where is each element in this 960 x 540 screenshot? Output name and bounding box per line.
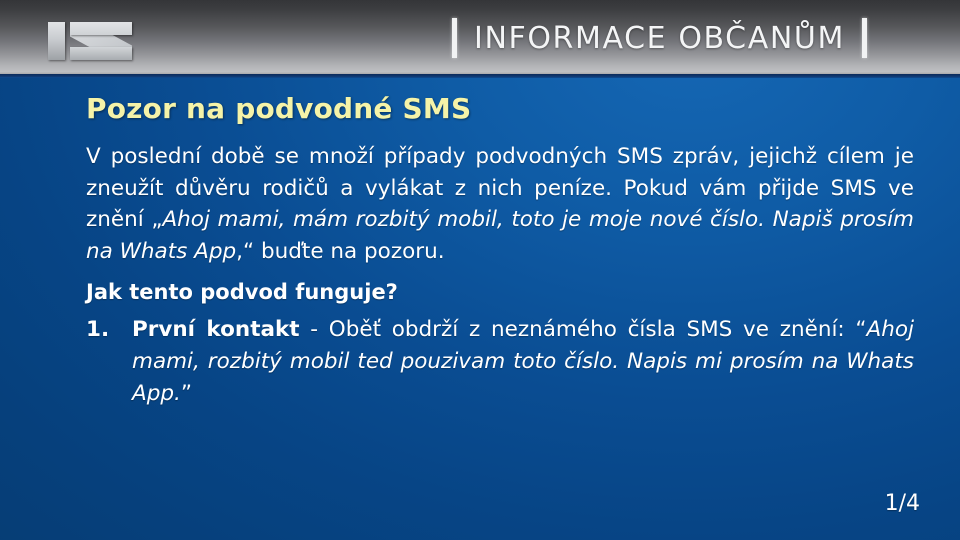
section-subheading: Jak tento podvod funguje?: [86, 280, 914, 304]
logo-letter-s-bottom: [70, 47, 132, 60]
list-item: 1.První kontakt - Oběť obdrží z neznáméh…: [86, 314, 914, 409]
intro-paragraph: V poslední době se množí případy podvodn…: [86, 141, 914, 267]
step-text-after-quote: ”: [181, 381, 192, 406]
header-title-group: INFORMACE OBČANŮM: [452, 17, 867, 59]
step-number: 1.: [86, 314, 109, 346]
header-band: INFORMACE OBČANŮM: [0, 0, 960, 74]
header-underline-divider: [0, 74, 960, 78]
header-title: INFORMACE OBČANŮM: [474, 21, 845, 56]
intro-text-part2: ,“ buďte na pozoru.: [236, 239, 444, 264]
slide-content: Pozor na podvodné SMS V poslední době se…: [86, 92, 914, 409]
header-right-bar-icon: [862, 18, 867, 58]
steps-list: 1.První kontakt - Oběť obdrží z neznáméh…: [86, 314, 914, 409]
page-indicator: 1/4: [885, 491, 920, 516]
logo-letter-s-top: [70, 22, 132, 35]
header-left-bar-icon: [452, 18, 457, 58]
step-text-before-quote: - Oběť obdrží z neznámého čísla SMS ve z…: [300, 317, 867, 342]
page-title: Pozor na podvodné SMS: [86, 92, 914, 125]
is-logo-icon: [48, 22, 132, 60]
step-bold-label: První kontakt: [132, 317, 300, 342]
logo-letter-i: [48, 22, 65, 60]
slide-canvas: INFORMACE OBČANŮM Pozor na podvodné SMS …: [0, 0, 960, 540]
intro-quoted-sms: Ahoj mami, mám rozbitý mobil, toto je mo…: [86, 207, 914, 264]
